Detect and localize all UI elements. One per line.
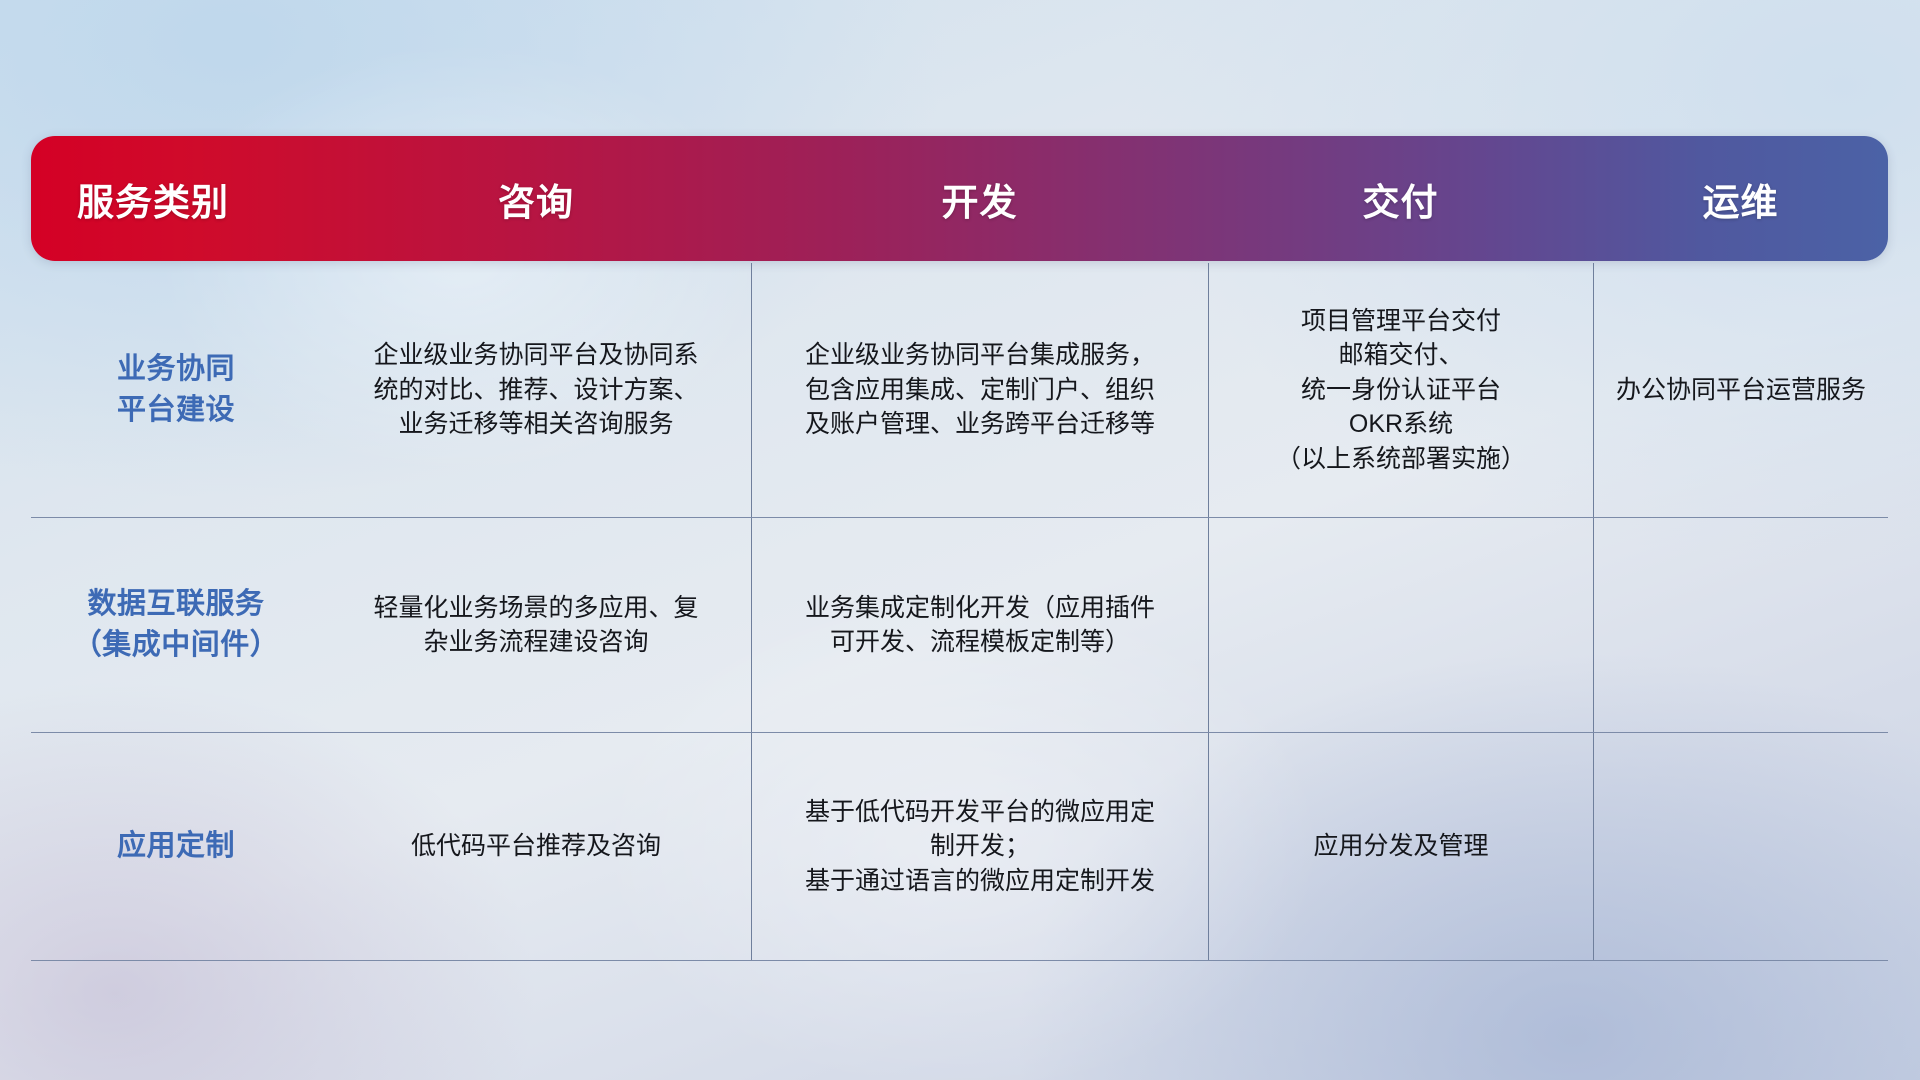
cell-development-row1: 业务集成定制化开发（应用插件 可开发、流程模板定制等） — [751, 518, 1208, 732]
cell-operations-row1 — [1593, 518, 1888, 732]
table-row: 业务协同 平台建设 企业级业务协同平台及协同系 统的对比、推荐、设计方案、 业务… — [31, 263, 1888, 518]
column-header-delivery: 交付 — [1208, 172, 1593, 226]
service-matrix-table: 服务类别 咨询 开发 交付 运维 业务协同 平台建设 企业级业务协同平台及协同系… — [31, 136, 1888, 961]
column-header-consulting: 咨询 — [321, 172, 751, 226]
cell-operations-row2 — [1593, 733, 1888, 960]
column-header-development: 开发 — [751, 172, 1208, 226]
table-row: 数据互联服务 （集成中间件） 轻量化业务场景的多应用、复 杂业务流程建设咨询 业… — [31, 518, 1888, 733]
cell-operations-row0: 办公协同平台运营服务 — [1593, 263, 1888, 517]
cell-development-row0: 企业级业务协同平台集成服务， 包含应用集成、定制门户、组织 及账户管理、业务跨平… — [751, 263, 1208, 517]
column-header-operations: 运维 — [1593, 172, 1888, 226]
row-label-business-collaboration: 业务协同 平台建设 — [31, 263, 321, 517]
cell-development-row2: 基于低代码开发平台的微应用定 制开发； 基于通过语言的微应用定制开发 — [751, 733, 1208, 960]
cell-consulting-row0: 企业级业务协同平台及协同系 统的对比、推荐、设计方案、 业务迁移等相关咨询服务 — [321, 263, 751, 517]
table-row: 应用定制 低代码平台推荐及咨询 基于低代码开发平台的微应用定 制开发； 基于通过… — [31, 733, 1888, 961]
column-header-category: 服务类别 — [31, 172, 321, 226]
table-body: 业务协同 平台建设 企业级业务协同平台及协同系 统的对比、推荐、设计方案、 业务… — [31, 263, 1888, 961]
cell-delivery-row0: 项目管理平台交付 邮箱交付、 统一身份认证平台 OKR系统 （以上系统部署实施） — [1208, 263, 1593, 517]
row-label-application-customization: 应用定制 — [31, 733, 321, 960]
row-label-data-integration: 数据互联服务 （集成中间件） — [31, 518, 321, 732]
cell-delivery-row1 — [1208, 518, 1593, 732]
cell-consulting-row2: 低代码平台推荐及咨询 — [321, 733, 751, 960]
table-header-row: 服务类别 咨询 开发 交付 运维 — [31, 136, 1888, 261]
cell-consulting-row1: 轻量化业务场景的多应用、复 杂业务流程建设咨询 — [321, 518, 751, 732]
cell-delivery-row2: 应用分发及管理 — [1208, 733, 1593, 960]
